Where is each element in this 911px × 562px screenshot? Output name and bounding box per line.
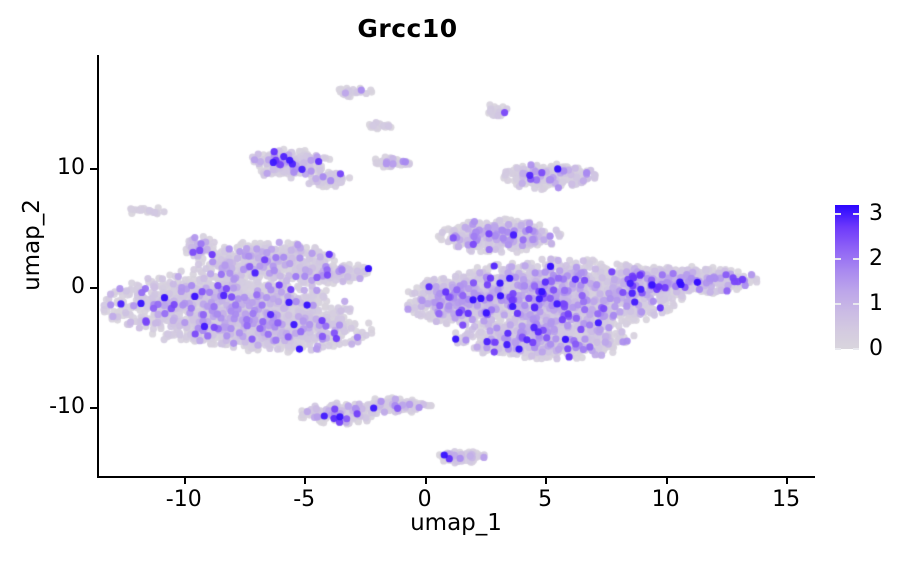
x-tick-label: 5 [510,487,580,512]
colorbar-tick-label: 0 [869,338,909,360]
y-tick-mark [90,407,97,409]
colorbar-tick-mark [853,303,859,305]
y-tick-mark [90,287,97,289]
x-tick-mark [304,478,306,484]
colorbar-tick-label: 3 [869,203,909,225]
x-tick-label: 0 [390,487,460,512]
x-tick-mark [666,478,668,484]
colorbar-tick-mark [835,258,841,260]
colorbar-tick-mark [853,258,859,260]
colorbar-tick-mark [853,348,859,350]
y-axis-label: umap_2 [19,125,45,365]
x-tick-mark [184,478,186,484]
colorbar-tick-mark [835,213,841,215]
umap-plot-figure: Grcc10 -10-5051015 100-10 umap_1 umap_2 … [0,0,911,562]
x-tick-label: 10 [631,487,701,512]
x-tick-label: -5 [269,487,339,512]
x-tick-mark [425,478,427,484]
colorbar-tick-label: 1 [869,293,909,315]
colorbar-tick-mark [835,303,841,305]
x-tick-label: -10 [149,487,219,512]
y-tick-mark [90,168,97,170]
x-axis-label: umap_1 [97,510,815,536]
colorbar-tick-mark [835,348,841,350]
colorbar-tick-mark [853,213,859,215]
y-tick-label: -10 [7,396,85,418]
x-tick-mark [786,478,788,484]
x-tick-label: 15 [751,487,821,512]
scatter-points-layer [97,55,815,478]
colorbar-tick-label: 2 [869,248,909,270]
colorbar: 0123 [835,205,859,349]
page-title: Grcc10 [0,14,815,43]
colorbar-gradient [835,205,859,349]
axis-spine-bottom [97,476,815,478]
axis-spine-left [97,55,99,478]
x-tick-mark [545,478,547,484]
plot-axes: -10-5051015 100-10 [97,55,815,478]
